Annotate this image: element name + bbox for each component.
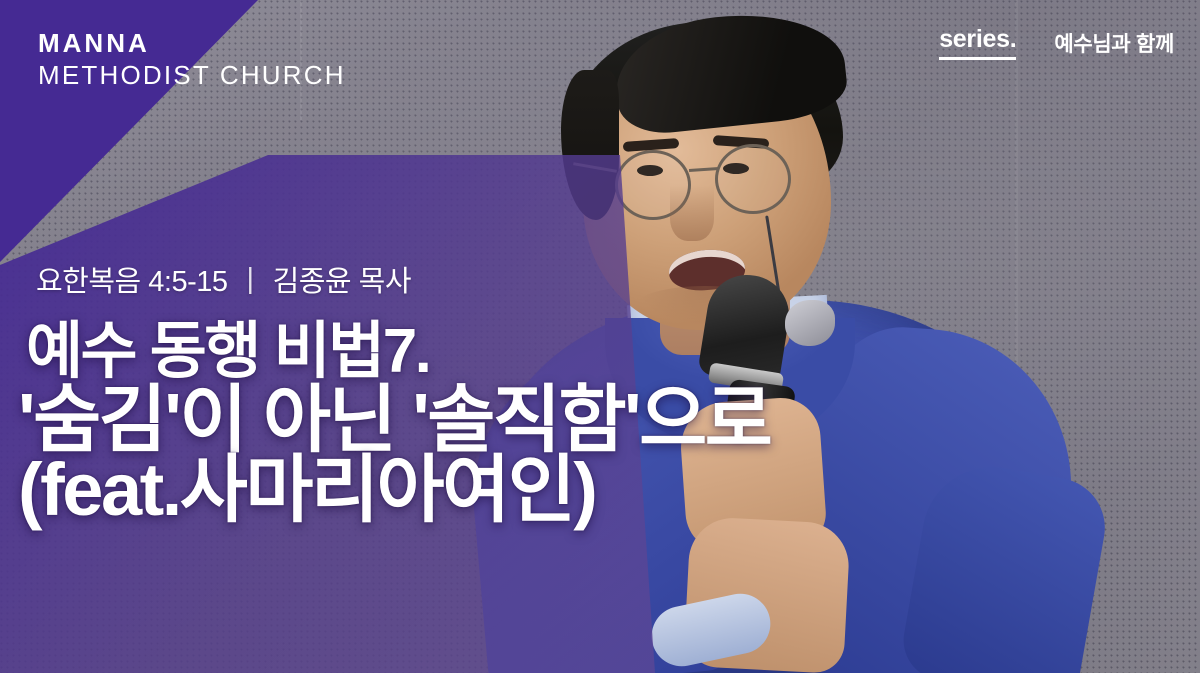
lens-right [715, 144, 791, 214]
logo-line-manna: MANNA [38, 28, 346, 60]
series-block: series. 예수님과 함께 [939, 26, 1174, 60]
scripture-reference: 요한복음 4:5-15 [36, 258, 228, 300]
eyeglasses-icon [605, 142, 835, 212]
in-ear-monitor-icon [785, 300, 835, 346]
logo-line-methodist-church: METHODIST CHURCH [38, 60, 346, 92]
title-line-1: 예수 동행 비법7. [26, 322, 770, 382]
sermon-title: 예수 동행 비법7. '숨김'이 아닌 '솔직함'으로 (feat.사마리아여인… [26, 322, 770, 526]
glasses-bridge [689, 167, 719, 172]
speaker-name: 김종윤 목사 [273, 258, 411, 300]
series-name: 예수님과 함께 [1054, 26, 1174, 58]
title-line-2: '숨김'이 아닌 '솔직함'으로 [18, 384, 770, 456]
meta-separator: | [247, 263, 254, 296]
sermon-thumbnail: MANNA METHODIST CHURCH series. 예수님과 함께 요… [0, 0, 1200, 673]
sermon-meta: 요한복음 4:5-15 | 김종윤 목사 [36, 258, 411, 300]
series-label: series. [939, 26, 1016, 60]
church-logo: MANNA METHODIST CHURCH [38, 28, 346, 91]
nose [670, 185, 714, 241]
title-line-3: (feat.사마리아여인) [18, 454, 770, 526]
